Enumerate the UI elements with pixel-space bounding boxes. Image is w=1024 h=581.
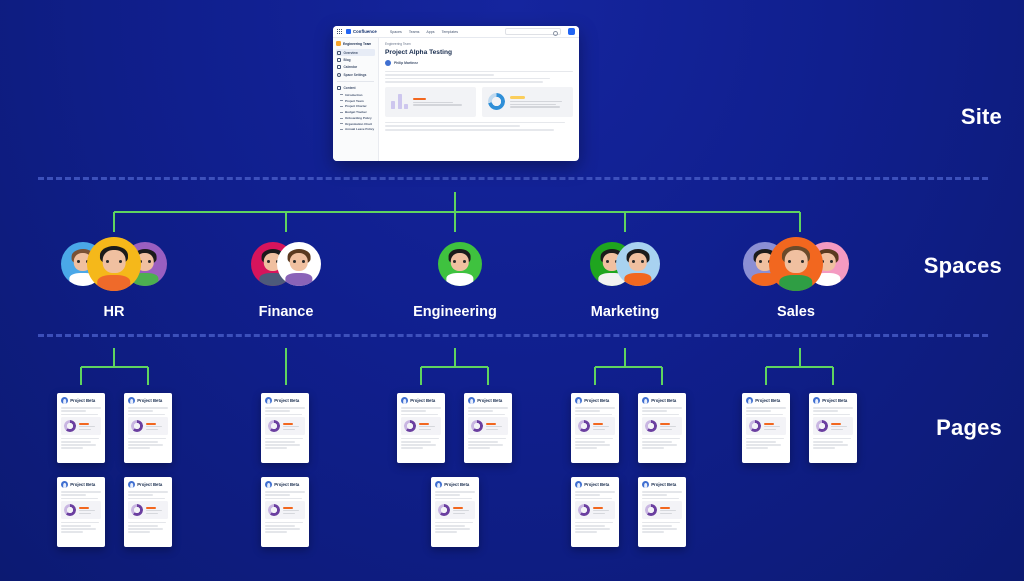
page-card[interactable]: Project Beta — [431, 477, 479, 547]
text-line — [746, 441, 776, 442]
donut-chart-icon — [438, 504, 450, 516]
avatar — [385, 60, 391, 66]
sidebar-section-content[interactable]: Content — [336, 85, 375, 92]
nav-item-templates[interactable]: Templates — [442, 30, 458, 34]
text-line — [642, 531, 664, 532]
text-line — [61, 525, 91, 526]
text-line — [468, 410, 493, 411]
nav-item-apps[interactable]: Apps — [426, 30, 434, 34]
page-card-chart-panel — [265, 501, 305, 519]
avatar — [61, 481, 68, 488]
accent-bar — [453, 507, 463, 509]
donut-chart-icon — [404, 420, 416, 432]
text-line — [385, 74, 494, 76]
text-line — [128, 407, 168, 408]
text-line — [746, 410, 771, 411]
confluence-site-window[interactable]: Confluence Spaces Teams Apps Templates E… — [333, 26, 579, 161]
space-finance[interactable]: Finance — [196, 233, 376, 320]
avatar — [642, 397, 649, 404]
confluence-nav: Spaces Teams Apps Templates — [390, 30, 458, 34]
avatar — [468, 397, 475, 404]
avatar-body — [779, 275, 812, 291]
page-card-title: Project Beta — [274, 398, 299, 403]
avatar — [769, 237, 823, 291]
text-line — [575, 447, 597, 448]
avatar — [575, 481, 582, 488]
text-line — [764, 426, 780, 427]
text-line — [128, 525, 158, 526]
text-line — [746, 438, 784, 439]
avatar — [746, 397, 753, 404]
text-line — [453, 513, 465, 514]
page-card[interactable]: Project Beta — [742, 393, 790, 463]
avatar-eye — [119, 260, 122, 263]
accent-bar — [283, 507, 293, 509]
text-line — [575, 498, 612, 499]
page-card[interactable]: Project Beta — [464, 393, 512, 463]
confluence-mark-icon — [346, 29, 351, 34]
text-line — [146, 429, 158, 430]
avatar — [61, 397, 68, 404]
text-line — [385, 125, 520, 127]
page-card-chart-panel — [401, 417, 441, 435]
divider-site-spaces — [38, 177, 988, 180]
gear-icon — [337, 73, 341, 77]
text-line — [486, 426, 502, 427]
page-card[interactable]: Project Beta — [397, 393, 445, 463]
page-card-title: Project Beta — [822, 398, 847, 403]
tree-item-label: Introduction — [345, 93, 363, 97]
text-line — [813, 441, 843, 442]
page-card-title: Project Beta — [651, 398, 676, 403]
text-line — [510, 101, 562, 102]
text-line — [401, 441, 431, 442]
text-line — [468, 444, 503, 445]
accent-bar — [660, 507, 670, 509]
text-line — [79, 429, 91, 430]
tree-item-label: Project Team — [345, 99, 364, 103]
text-line — [593, 429, 605, 430]
page-card-chart-caption — [486, 423, 505, 430]
text-line — [575, 414, 612, 415]
page-card[interactable]: Project Beta — [571, 477, 619, 547]
tier-label-spaces: Spaces — [924, 253, 1002, 279]
text-line — [128, 438, 166, 439]
tier-label-pages: Pages — [936, 415, 1002, 441]
confluence-topbar: Confluence Spaces Teams Apps Templates — [333, 26, 579, 38]
text-line — [660, 513, 672, 514]
text-line — [79, 510, 95, 511]
accent-bar — [79, 423, 89, 425]
space-marketing[interactable]: Marketing — [535, 233, 715, 320]
page-card-chart-caption — [593, 423, 612, 430]
text-line — [61, 441, 91, 442]
accent-bar — [283, 423, 293, 425]
text-line — [660, 426, 676, 427]
accent-bar — [660, 423, 670, 425]
text-line — [61, 438, 99, 439]
page-card-header: Project Beta — [642, 397, 682, 404]
page-card-header: Project Beta — [468, 397, 508, 404]
accent-bar — [486, 423, 496, 425]
page-card-header: Project Beta — [128, 481, 168, 488]
avatar-body — [285, 273, 312, 286]
text-line — [575, 407, 615, 408]
text-line — [435, 491, 475, 492]
text-line — [61, 498, 98, 499]
text-line — [385, 122, 565, 124]
donut-chart-caption — [510, 96, 567, 107]
space-avatar-icon — [336, 41, 341, 46]
page-card-title: Project Beta — [410, 398, 435, 403]
text-line — [265, 494, 290, 495]
text-line — [642, 410, 667, 411]
text-line — [642, 447, 664, 448]
divider-spaces-pages — [38, 334, 988, 337]
text-line — [61, 444, 96, 445]
text-line — [283, 513, 295, 514]
text-line — [813, 410, 838, 411]
page-card-chart-caption — [660, 423, 679, 430]
text-line — [385, 129, 554, 131]
page-card-header: Project Beta — [401, 397, 441, 404]
text-line — [265, 528, 300, 529]
text-line — [510, 104, 556, 105]
page-card-header: Project Beta — [265, 481, 305, 488]
sidebar-item-label: Calendar — [344, 65, 358, 69]
accent-bar — [146, 423, 156, 425]
page-card-chart-panel — [642, 501, 682, 519]
page-card[interactable]: Project Beta — [124, 393, 172, 463]
page-card-chart-caption — [283, 507, 302, 514]
sidebar-section-label: Content — [344, 86, 356, 90]
accent-bar — [593, 423, 603, 425]
text-line — [265, 491, 305, 492]
search-input[interactable] — [505, 28, 561, 35]
accent-bar — [510, 96, 525, 99]
sidebar-item-label: Overview — [344, 51, 358, 55]
space-name-label: Engineering Team — [343, 42, 371, 46]
text-line — [79, 513, 91, 514]
text-line — [813, 407, 853, 408]
text-line — [575, 410, 600, 411]
overview-icon — [337, 51, 341, 55]
space-sales[interactable]: Sales — [706, 233, 886, 320]
text-line — [642, 491, 682, 492]
text-line — [575, 444, 610, 445]
user-avatar[interactable] — [568, 28, 575, 35]
nav-item-teams[interactable]: Teams — [409, 30, 420, 34]
text-line — [146, 513, 158, 514]
text-line — [575, 438, 613, 439]
space-name-label: Sales — [777, 304, 815, 320]
text-line — [642, 522, 680, 523]
text-line — [413, 104, 462, 105]
text-line — [486, 429, 498, 430]
donut-chart-icon — [471, 420, 483, 432]
page-card-title: Project Beta — [137, 482, 162, 487]
text-line — [128, 494, 153, 495]
tree-item-label: Project Charter — [345, 104, 367, 108]
text-line — [265, 410, 290, 411]
text-line — [642, 494, 667, 495]
text-line — [61, 531, 83, 532]
text-line — [642, 525, 672, 526]
text-line — [468, 414, 505, 415]
avatar — [128, 397, 135, 404]
page-card-chart-caption — [419, 423, 438, 430]
donut-chart-icon — [64, 420, 76, 432]
sidebar-divider — [337, 81, 374, 82]
text-line — [61, 494, 86, 495]
page-card-chart-caption — [660, 507, 679, 514]
text-line — [265, 441, 295, 442]
avatar-body — [97, 275, 130, 291]
page-card-chart-caption — [453, 507, 472, 514]
text-line — [146, 510, 162, 511]
text-line — [265, 414, 302, 415]
space-name-label: Marketing — [591, 304, 660, 320]
avatar — [277, 242, 321, 286]
page-card-chart-panel — [746, 417, 786, 435]
text-line — [660, 510, 676, 511]
text-line — [746, 407, 786, 408]
accent-bar — [419, 423, 429, 425]
page-card[interactable]: Project Beta — [571, 393, 619, 463]
page-card-title: Project Beta — [584, 482, 609, 487]
text-line — [746, 447, 768, 448]
page-card-chart-caption — [79, 507, 98, 514]
donut-chart-icon — [131, 420, 143, 432]
donut-chart-icon — [578, 420, 590, 432]
blog-icon — [337, 58, 341, 62]
text-line — [61, 522, 99, 523]
space-name-label: Engineering — [413, 304, 497, 320]
text-line — [385, 81, 543, 83]
text-line — [435, 498, 472, 499]
page-card-title: Project Beta — [70, 398, 95, 403]
text-line — [435, 528, 470, 529]
sidebar-item-label: Blog — [344, 58, 351, 62]
sidebar-space-header[interactable]: Engineering Team — [336, 41, 375, 46]
text-line — [575, 491, 615, 492]
page-card[interactable]: Project Beta — [261, 393, 309, 463]
text-line — [575, 522, 613, 523]
text-line — [283, 426, 299, 427]
text-line — [61, 491, 101, 492]
text-line — [385, 78, 550, 80]
text-line — [61, 447, 83, 448]
app-switcher-icon[interactable] — [337, 29, 342, 34]
accent-bar — [79, 507, 89, 509]
text-line — [401, 410, 426, 411]
tier-label-site: Site — [961, 104, 1002, 130]
page-card[interactable]: Project Beta — [57, 393, 105, 463]
sidebar-item-calendar[interactable]: Calendar — [336, 64, 375, 71]
text-line — [413, 102, 453, 103]
page-card[interactable]: Project Beta — [638, 477, 686, 547]
confluence-logo[interactable]: Confluence — [346, 29, 377, 34]
page-card-header: Project Beta — [265, 397, 305, 404]
page-card-chart-panel — [468, 417, 508, 435]
space-avatar-group — [590, 233, 660, 295]
page-card-header: Project Beta — [813, 397, 853, 404]
text-line — [575, 531, 597, 532]
page-card-chart-caption — [146, 423, 165, 430]
page-card-chart-caption — [764, 423, 783, 430]
page-card-chart-panel — [61, 501, 101, 519]
tree-item-label: Budget Tracker — [345, 110, 367, 114]
accent-bar — [413, 98, 426, 100]
text-line — [128, 447, 150, 448]
text-line — [642, 498, 679, 499]
bullet-icon — [340, 112, 343, 113]
confluence-main-content: Engineering Team Project Alpha Testing P… — [379, 38, 579, 161]
page-card-header: Project Beta — [642, 481, 682, 488]
avatar — [575, 397, 582, 404]
text-line — [265, 525, 295, 526]
page-card[interactable]: Project Beta — [809, 393, 857, 463]
author-name-label: Philip Martinez — [394, 61, 418, 65]
text-line — [642, 407, 682, 408]
page-card[interactable]: Project Beta — [124, 477, 172, 547]
text-line — [453, 510, 469, 511]
text-line — [61, 414, 98, 415]
page-card-header: Project Beta — [575, 397, 615, 404]
text-line — [435, 531, 457, 532]
donut-chart-icon — [268, 420, 280, 432]
text-line — [128, 410, 153, 411]
bullet-icon — [340, 94, 343, 95]
text-line — [510, 106, 560, 107]
text-line — [575, 441, 605, 442]
text-line — [419, 429, 431, 430]
accent-bar — [831, 423, 841, 425]
text-line — [265, 522, 303, 523]
tree-item-annual-leave-policy[interactable]: Annual Leave Policy — [336, 127, 375, 133]
text-line — [764, 429, 776, 430]
text-line — [128, 414, 165, 415]
text-line — [61, 407, 101, 408]
page-card-chart-caption — [593, 507, 612, 514]
text-line — [575, 528, 610, 529]
donut-chart-icon — [645, 504, 657, 516]
bullet-icon — [340, 129, 343, 130]
space-avatar-group — [61, 233, 167, 295]
avatar — [265, 481, 272, 488]
page-card-chart-panel — [575, 417, 615, 435]
text-line — [419, 426, 435, 427]
text-line — [283, 510, 299, 511]
tree-item-label: Onboarding Policy — [345, 116, 372, 120]
page-card[interactable]: Project Beta — [57, 477, 105, 547]
text-line — [813, 447, 835, 448]
bar-chart-caption — [413, 98, 470, 106]
page-card-chart-panel — [575, 501, 615, 519]
text-line — [642, 528, 677, 529]
text-line — [385, 71, 573, 73]
content-icon — [337, 86, 341, 90]
page-card-header: Project Beta — [575, 481, 615, 488]
tree-item-label: Annual Leave Policy — [345, 127, 374, 131]
text-line — [128, 491, 168, 492]
page-card-title: Project Beta — [137, 398, 162, 403]
nav-item-spaces[interactable]: Spaces — [390, 30, 402, 34]
text-line — [642, 444, 677, 445]
sidebar-item-space-settings[interactable]: Space Settings — [336, 71, 375, 78]
text-line — [642, 438, 680, 439]
text-line — [61, 410, 86, 411]
text-line — [265, 498, 302, 499]
text-line — [401, 444, 436, 445]
space-engineering[interactable]: Engineering — [365, 233, 545, 320]
text-line — [593, 426, 609, 427]
bullet-icon — [340, 123, 343, 124]
text-line — [128, 498, 165, 499]
text-line — [128, 528, 163, 529]
text-line — [265, 407, 305, 408]
bullet-icon — [340, 106, 343, 107]
breadcrumb[interactable]: Engineering Team — [385, 42, 573, 46]
page-card-header: Project Beta — [128, 397, 168, 404]
page-card-header: Project Beta — [435, 481, 475, 488]
donut-chart-icon — [488, 93, 505, 110]
page-card[interactable]: Project Beta — [261, 477, 309, 547]
avatar-body — [624, 273, 651, 286]
page-card-chart-caption — [283, 423, 302, 430]
page-card-chart-panel — [128, 417, 168, 435]
accent-bar — [146, 507, 156, 509]
text-line — [401, 407, 441, 408]
text-line — [642, 441, 672, 442]
tree-item-label: Organization Chart — [345, 122, 372, 126]
page-card-chart-panel — [61, 417, 101, 435]
page-card-chart-caption — [79, 423, 98, 430]
page-card[interactable]: Project Beta — [638, 393, 686, 463]
content-widgets — [385, 87, 573, 117]
avatar — [87, 237, 141, 291]
space-avatar-group — [438, 233, 473, 295]
page-author: Philip Martinez — [385, 60, 573, 66]
space-name-label: HR — [104, 304, 125, 320]
avatar — [616, 242, 660, 286]
page-card-header: Project Beta — [61, 397, 101, 404]
avatar — [128, 481, 135, 488]
text-line — [61, 528, 96, 529]
sidebar-item-overview[interactable]: Overview — [336, 49, 375, 56]
donut-chart-widget — [482, 87, 573, 117]
avatar — [435, 481, 442, 488]
page-card-chart-panel — [435, 501, 475, 519]
sidebar-item-blog[interactable]: Blog — [336, 56, 375, 63]
space-avatar-group — [743, 233, 849, 295]
page-card-header: Project Beta — [746, 397, 786, 404]
page-card-title: Project Beta — [584, 398, 609, 403]
page-card-title: Project Beta — [444, 482, 469, 487]
page-title: Project Alpha Testing — [385, 49, 573, 56]
text-line — [575, 525, 605, 526]
text-line — [146, 426, 162, 427]
text-line — [265, 531, 287, 532]
space-hr[interactable]: HR — [24, 233, 204, 320]
text-line — [468, 438, 506, 439]
donut-chart-icon — [816, 420, 828, 432]
accent-bar — [764, 423, 774, 425]
page-card-header: Project Beta — [61, 481, 101, 488]
page-card-title: Project Beta — [70, 482, 95, 487]
text-line — [593, 513, 605, 514]
text-line — [813, 444, 848, 445]
